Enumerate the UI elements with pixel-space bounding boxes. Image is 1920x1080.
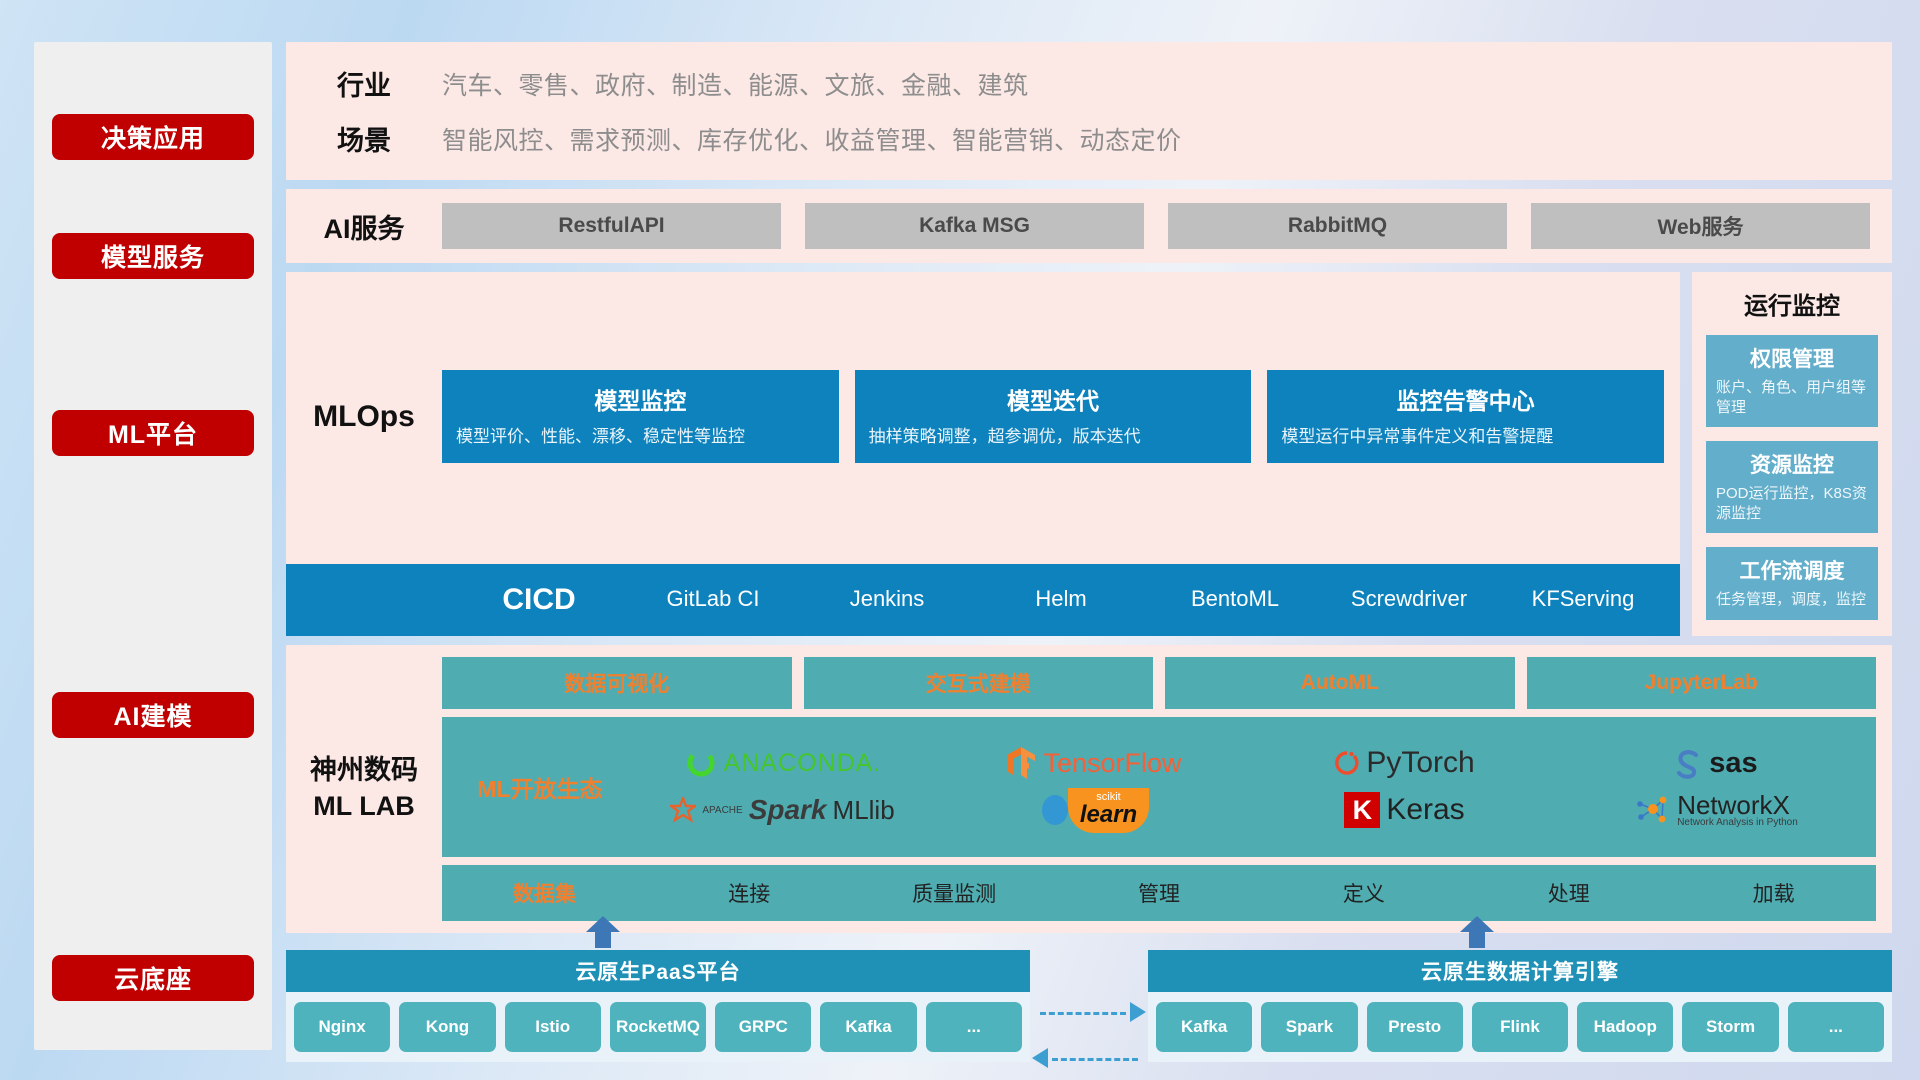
tensorflow-icon xyxy=(1005,745,1037,781)
networkx-sublabel: Network Analysis in Python xyxy=(1677,818,1798,828)
engine-panel: 云原生数据计算引擎 Kafka Spark Presto Flink Hadoo… xyxy=(1148,950,1892,1062)
monitor-card-permission[interactable]: 权限管理 账户、角色、用户组等管理 xyxy=(1706,335,1878,427)
card-title: 工作流调度 xyxy=(1716,555,1868,585)
cicd-item-bentoml[interactable]: BentoML xyxy=(1148,587,1322,611)
industry-value: 汽车、零售、政府、制造、能源、文旅、金融、建筑 xyxy=(442,66,1029,102)
keras-label: Keras xyxy=(1386,793,1464,827)
tab-interactive-modeling[interactable]: 交互式建模 xyxy=(804,657,1154,709)
ml-ecosystem-label: ML开放生态 xyxy=(450,770,630,804)
paas-panel: 云原生PaaS平台 Nginx Kong Istio RocketMQ GRPC… xyxy=(286,950,1030,1062)
mlops-card-model-iteration[interactable]: 模型迭代 抽样策略调整，超参调优，版本迭代 xyxy=(855,370,1252,463)
pytorch-label: PyTorch xyxy=(1366,746,1474,780)
ai-service-band: AI服务 RestfulAPI Kafka MSG RabbitMQ Web服务 xyxy=(286,189,1892,263)
main-column: 行业 汽车、零售、政府、制造、能源、文旅、金融、建筑 场景 智能风控、需求预测、… xyxy=(286,42,1892,1050)
tensorflow-logo: TensorFlow xyxy=(1005,745,1181,781)
rail-label: ML平台 xyxy=(108,415,198,451)
engine-chip-flink[interactable]: Flink xyxy=(1472,1002,1568,1052)
spark-apache-label: APACHE xyxy=(702,805,742,816)
ai-service-chip-list: RestfulAPI Kafka MSG RabbitMQ Web服务 xyxy=(442,203,1870,249)
dataset-item-manage[interactable]: 管理 xyxy=(1057,878,1262,908)
arrow-right-dashed-line xyxy=(1040,1012,1126,1015)
keras-logo: K Keras xyxy=(1344,792,1464,828)
card-desc: 任务管理，调度，监控 xyxy=(1716,590,1868,610)
rail-label: 决策应用 xyxy=(101,119,205,155)
dataset-item-define[interactable]: 定义 xyxy=(1261,878,1466,908)
engine-chip-storm[interactable]: Storm xyxy=(1682,1002,1778,1052)
engine-chip-list: Kafka Spark Presto Flink Hadoop Storm ..… xyxy=(1148,992,1892,1062)
rail-item-ai-modeling[interactable]: AI建模 xyxy=(52,692,254,738)
arrow-left-head-icon xyxy=(1032,1048,1048,1068)
ai-service-label: AI服务 xyxy=(286,207,442,246)
card-desc: 账户、角色、用户组等管理 xyxy=(1716,378,1868,417)
sas-logo: sas xyxy=(1673,747,1757,780)
mllib-label: MLlib xyxy=(833,795,895,826)
tab-automl[interactable]: AutoML xyxy=(1165,657,1515,709)
tensorflow-label: TensorFlow xyxy=(1043,748,1181,779)
scikit-blue-blob-icon xyxy=(1038,793,1072,827)
ml-ecosystem-logo-grid: ANACONDA. TensorFlow xyxy=(630,741,1868,833)
cicd-item-gitlab-ci[interactable]: GitLab CI xyxy=(626,587,800,611)
paas-chip-list: Nginx Kong Istio RocketMQ GRPC Kafka ... xyxy=(286,992,1030,1062)
cicd-item-screwdriver[interactable]: Screwdriver xyxy=(1322,587,1496,611)
learn-label: learn xyxy=(1080,803,1137,827)
ml-ecosystem-band: ML开放生态 ANACONDA. xyxy=(442,717,1876,857)
card-title: 资源监控 xyxy=(1716,449,1868,479)
networkx-graph-icon xyxy=(1633,793,1671,827)
paas-chip-kong[interactable]: Kong xyxy=(399,1002,495,1052)
mlops-card-alert-center[interactable]: 监控告警中心 模型运行中异常事件定义和告警提醒 xyxy=(1267,370,1664,463)
industry-label: 行业 xyxy=(286,64,442,103)
run-monitor-panel: 运行监控 权限管理 账户、角色、用户组等管理 资源监控 POD运行监控，K8S资… xyxy=(1692,272,1892,636)
cicd-item-helm[interactable]: Helm xyxy=(974,587,1148,611)
mlops-label: MLOps xyxy=(286,400,442,434)
card-desc: 抽样策略调整，超参调优，版本迭代 xyxy=(869,426,1238,449)
anaconda-label: ANACONDA. xyxy=(724,749,882,778)
dataset-item-load[interactable]: 加载 xyxy=(1671,878,1876,908)
paas-chip-rocketmq[interactable]: RocketMQ xyxy=(610,1002,706,1052)
paas-chip-grpc[interactable]: GRPC xyxy=(715,1002,811,1052)
diagram-root: 决策应用 模型服务 ML平台 AI建模 云底座 行业 汽车、零售、政府、制造、能… xyxy=(0,0,1920,1080)
ml-lab-label: 神州数码 ML LAB xyxy=(286,657,442,921)
card-desc: 模型运行中异常事件定义和告警提醒 xyxy=(1281,426,1650,449)
networkx-label: NetworkX xyxy=(1677,792,1798,818)
ml-lab-body: 数据可视化 交互式建模 AutoML JupyterLab ML开放生态 ANA… xyxy=(442,657,1876,921)
spark-star-icon xyxy=(670,797,696,823)
tab-data-visualization[interactable]: 数据可视化 xyxy=(442,657,792,709)
keras-mark-icon: K xyxy=(1344,792,1380,828)
cloud-base-row: 云原生PaaS平台 Nginx Kong Istio RocketMQ GRPC… xyxy=(286,950,1892,1062)
ml-lab-tab-list: 数据可视化 交互式建模 AutoML JupyterLab xyxy=(442,657,1876,709)
scenario-label: 场景 xyxy=(286,119,442,158)
mlops-column: MLOps 模型监控 模型评价、性能、漂移、稳定性等监控 模型迭代 抽样策略调整… xyxy=(286,272,1680,636)
scenario-value: 智能风控、需求预测、库存优化、收益管理、智能营销、动态定价 xyxy=(442,121,1182,157)
dataset-item-connect[interactable]: 连接 xyxy=(647,878,852,908)
dataset-item-quality-monitoring[interactable]: 质量监测 xyxy=(852,878,1057,908)
arrow-left-dashed-line xyxy=(1052,1058,1138,1061)
monitor-card-resource[interactable]: 资源监控 POD运行监控，K8S资源监控 xyxy=(1706,441,1878,533)
engine-title: 云原生数据计算引擎 xyxy=(1148,950,1892,992)
run-monitor-title: 运行监控 xyxy=(1706,286,1878,321)
card-desc: POD运行监控，K8S资源监控 xyxy=(1716,484,1868,523)
rail-item-decision-app[interactable]: 决策应用 xyxy=(52,114,254,160)
rail-item-model-service[interactable]: 模型服务 xyxy=(52,233,254,279)
sas-label: sas xyxy=(1709,747,1757,780)
engine-chip-kafka[interactable]: Kafka xyxy=(1156,1002,1252,1052)
rail-item-cloud-base[interactable]: 云底座 xyxy=(52,955,254,1001)
card-title: 模型监控 xyxy=(456,382,825,416)
rail-label: 模型服务 xyxy=(101,238,205,274)
arrow-right-head-icon xyxy=(1130,1002,1146,1022)
paas-title: 云原生PaaS平台 xyxy=(286,950,1030,992)
mlops-card-list: 模型监控 模型评价、性能、漂移、稳定性等监控 模型迭代 抽样策略调整，超参调优，… xyxy=(442,370,1664,463)
cicd-band: CICD GitLab CI Jenkins Helm BentoML Scre… xyxy=(286,564,1680,636)
scikit-orange-shape: scikit learn xyxy=(1068,788,1149,833)
engine-up-arrow-icon xyxy=(1460,916,1494,948)
cicd-label: CICD xyxy=(452,583,626,616)
sas-icon xyxy=(1673,747,1703,779)
monitor-card-workflow[interactable]: 工作流调度 任务管理，调度，监控 xyxy=(1706,547,1878,620)
engine-chip-more[interactable]: ... xyxy=(1788,1002,1884,1052)
industry-row: 行业 汽车、零售、政府、制造、能源、文旅、金融、建筑 xyxy=(286,64,1892,103)
rail-label: 云底座 xyxy=(114,960,192,996)
paas-chip-kafka[interactable]: Kafka xyxy=(820,1002,916,1052)
mlops-and-monitor-row: MLOps 模型监控 模型评价、性能、漂移、稳定性等监控 模型迭代 抽样策略调整… xyxy=(286,272,1892,636)
cicd-item-kfserving[interactable]: KFServing xyxy=(1496,587,1670,611)
ai-service-chip-kafka-msg[interactable]: Kafka MSG xyxy=(805,203,1144,249)
dataset-label: 数据集 xyxy=(442,878,647,908)
engine-chip-presto[interactable]: Presto xyxy=(1367,1002,1463,1052)
paas-chip-more[interactable]: ... xyxy=(926,1002,1022,1052)
anaconda-icon xyxy=(684,746,718,780)
bidirectional-arrow-group xyxy=(1030,950,1148,1062)
card-desc: 模型评价、性能、漂移、稳定性等监控 xyxy=(456,426,825,449)
paas-chip-istio[interactable]: Istio xyxy=(505,1002,601,1052)
engine-chip-spark[interactable]: Spark xyxy=(1261,1002,1357,1052)
anaconda-logo: ANACONDA. xyxy=(684,746,882,780)
keras-mark-label: K xyxy=(1353,795,1373,826)
mlops-card-model-monitoring[interactable]: 模型监控 模型评价、性能、漂移、稳定性等监控 xyxy=(442,370,839,463)
engine-chip-hadoop[interactable]: Hadoop xyxy=(1577,1002,1673,1052)
paas-chip-nginx[interactable]: Nginx xyxy=(294,1002,390,1052)
card-title: 监控告警中心 xyxy=(1281,382,1650,416)
rail-item-ml-platform[interactable]: ML平台 xyxy=(52,410,254,456)
scikit-learn-logo: scikit learn xyxy=(1038,788,1149,833)
mlops-band: MLOps 模型监控 模型评价、性能、漂移、稳定性等监控 模型迭代 抽样策略调整… xyxy=(286,272,1680,564)
ai-modeling-band: 神州数码 ML LAB 数据可视化 交互式建模 AutoML JupyterLa… xyxy=(286,645,1892,933)
spark-label: Spark xyxy=(749,794,827,826)
card-title: 权限管理 xyxy=(1716,343,1868,373)
ml-lab-label-line2: ML LAB xyxy=(310,789,418,824)
ml-lab-label-line1: 神州数码 xyxy=(310,753,418,788)
ai-service-chip-restfulapi[interactable]: RestfulAPI xyxy=(442,203,781,249)
pytorch-icon xyxy=(1334,747,1360,779)
ai-service-chip-rabbitmq[interactable]: RabbitMQ xyxy=(1168,203,1507,249)
tab-jupyterlab[interactable]: JupyterLab xyxy=(1527,657,1877,709)
paas-up-arrow-icon xyxy=(586,916,620,948)
scenario-row: 场景 智能风控、需求预测、库存优化、收益管理、智能营销、动态定价 xyxy=(286,119,1892,158)
spark-mllib-logo: APACHE Spark MLlib xyxy=(670,794,894,826)
networkx-logo: NetworkX Network Analysis in Python xyxy=(1633,792,1798,828)
dataset-band: 数据集 连接 质量监测 管理 定义 处理 加载 xyxy=(442,865,1876,921)
layer-rail: 决策应用 模型服务 ML平台 AI建模 云底座 xyxy=(34,42,272,1050)
cicd-item-jenkins[interactable]: Jenkins xyxy=(800,587,974,611)
dataset-item-process[interactable]: 处理 xyxy=(1466,878,1671,908)
pytorch-logo: PyTorch xyxy=(1334,746,1474,780)
card-title: 模型迭代 xyxy=(869,382,1238,416)
industry-scenario-band: 行业 汽车、零售、政府、制造、能源、文旅、金融、建筑 场景 智能风控、需求预测、… xyxy=(286,42,1892,180)
ai-service-chip-web-service[interactable]: Web服务 xyxy=(1531,203,1870,249)
rail-label: AI建模 xyxy=(113,697,192,733)
